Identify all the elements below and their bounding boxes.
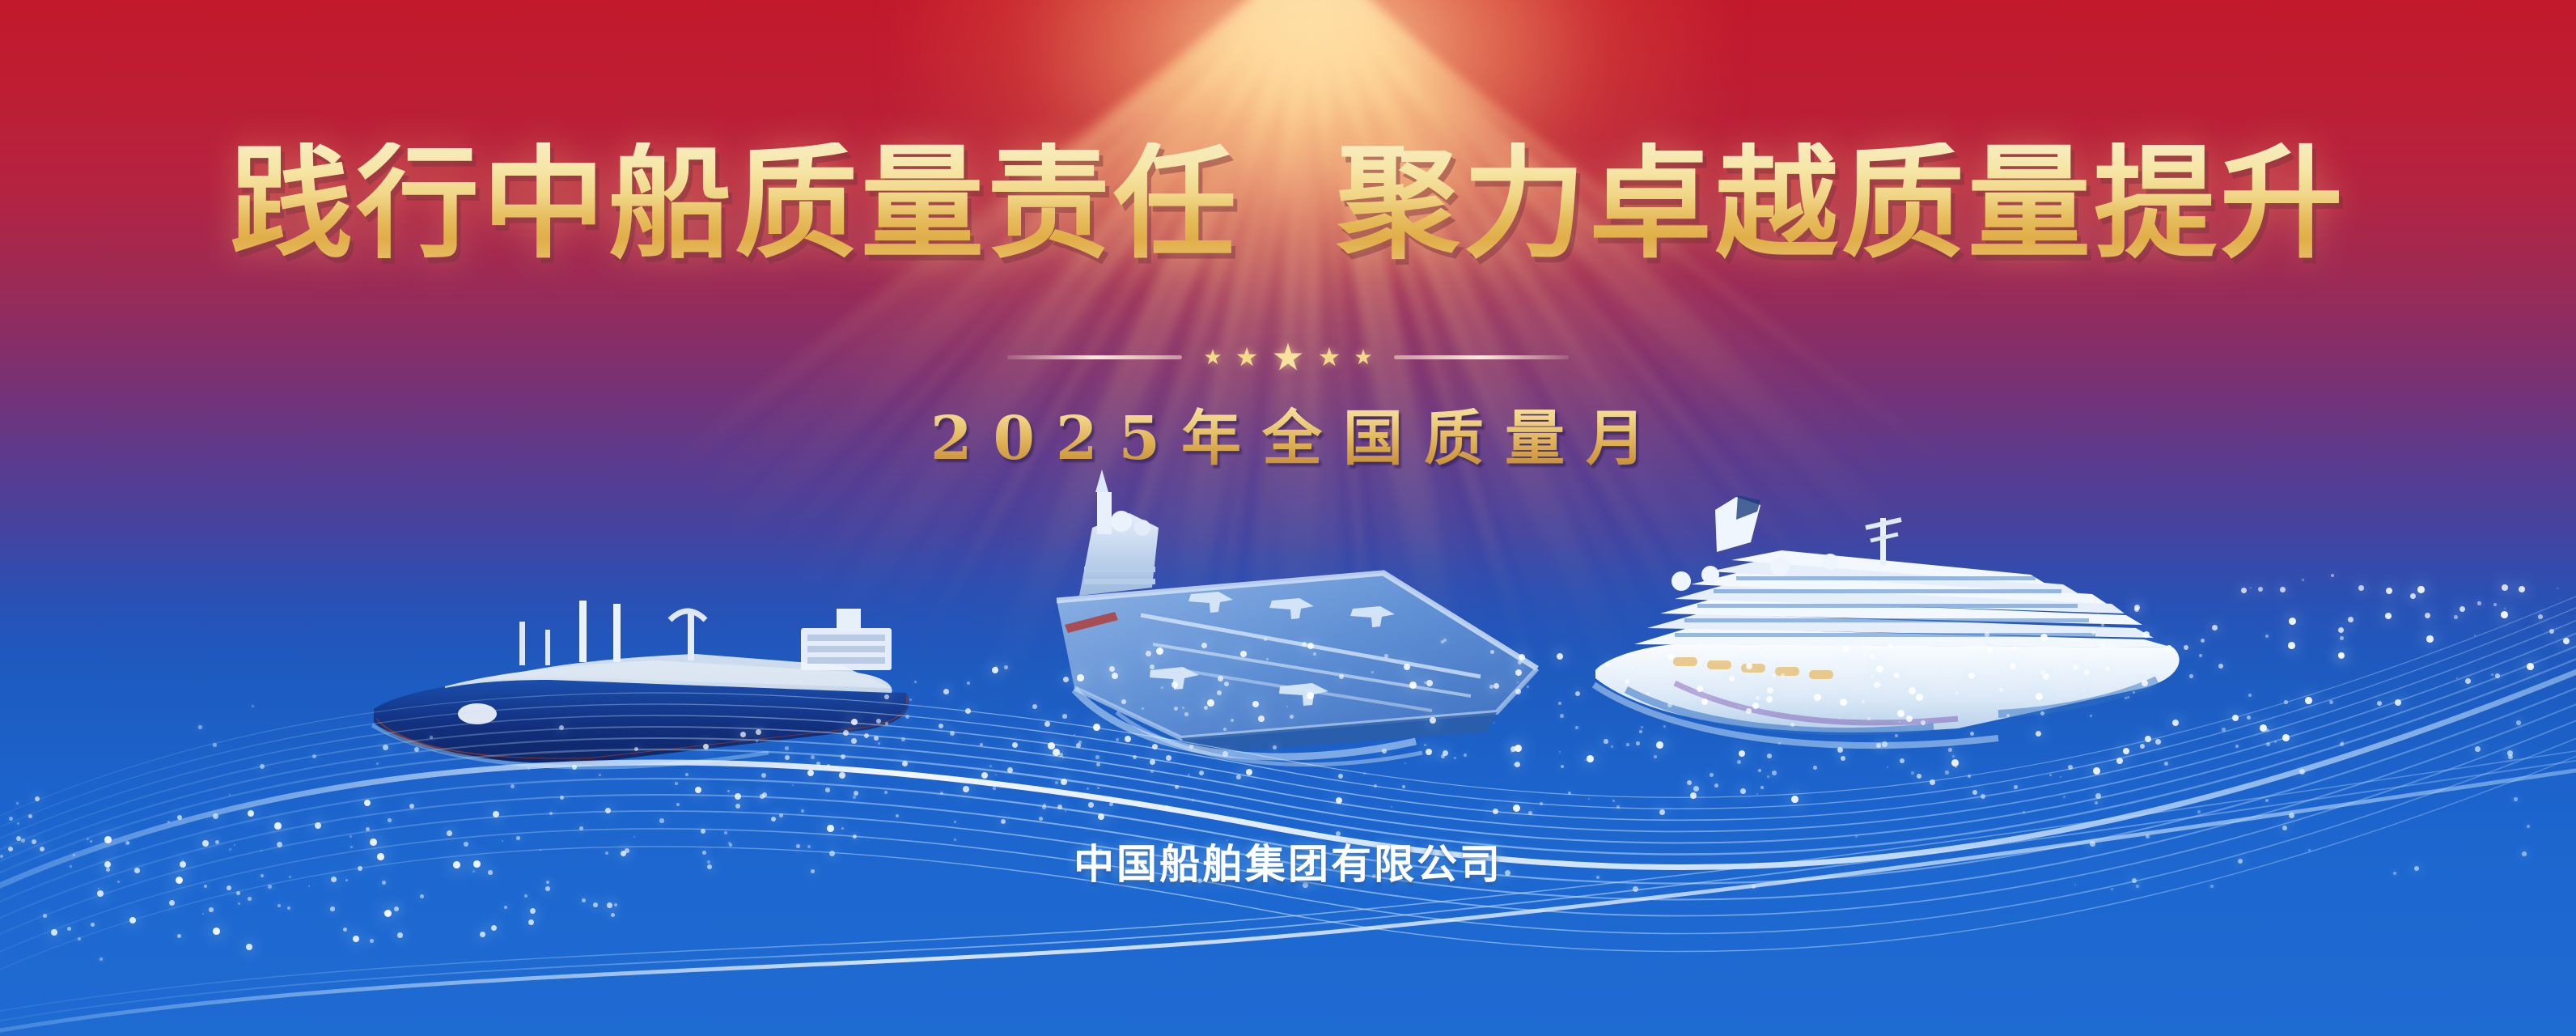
top-glow-core	[907, 0, 1716, 291]
sea-overlay	[0, 534, 2576, 1036]
quality-month-banner: 践行中船质量责任 聚力卓越质量提升 ★ ★ ★ ★ ★ 2025年全国质量月 中…	[0, 0, 2576, 1036]
